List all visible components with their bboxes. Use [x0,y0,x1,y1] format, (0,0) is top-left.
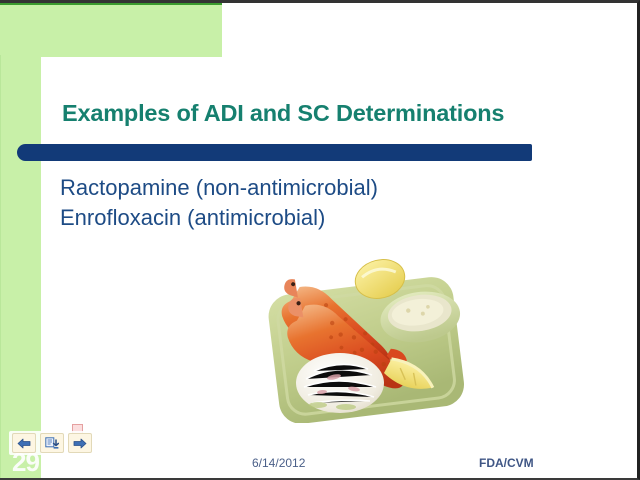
body-line-2: Enrofloxacin (antimicrobial) [60,203,580,233]
green-top-block-decoration [0,3,222,57]
slide-viewer: Examples of ADI and SC Determinations Ra… [0,0,640,480]
footer-organization: FDA/CVM [479,456,534,470]
arrow-left-icon [17,438,31,449]
arrow-right-icon [73,438,87,449]
save-slide-button[interactable] [40,433,64,453]
slide-title: Examples of ADI and SC Determinations [62,100,602,127]
footer-date: 6/14/2012 [252,456,305,470]
title-underline-bar [17,144,532,161]
green-left-strip-decoration [0,55,41,480]
save-download-icon [45,437,59,450]
fried-shrimp-photo [268,251,473,423]
previous-slide-button[interactable] [12,433,36,453]
next-slide-button[interactable] [68,433,92,453]
body-line-1: Ractopamine (non-antimicrobial) [60,173,580,203]
navigation-toolbar [9,431,95,455]
slide-body: Ractopamine (non-antimicrobial) Enroflox… [60,173,580,233]
